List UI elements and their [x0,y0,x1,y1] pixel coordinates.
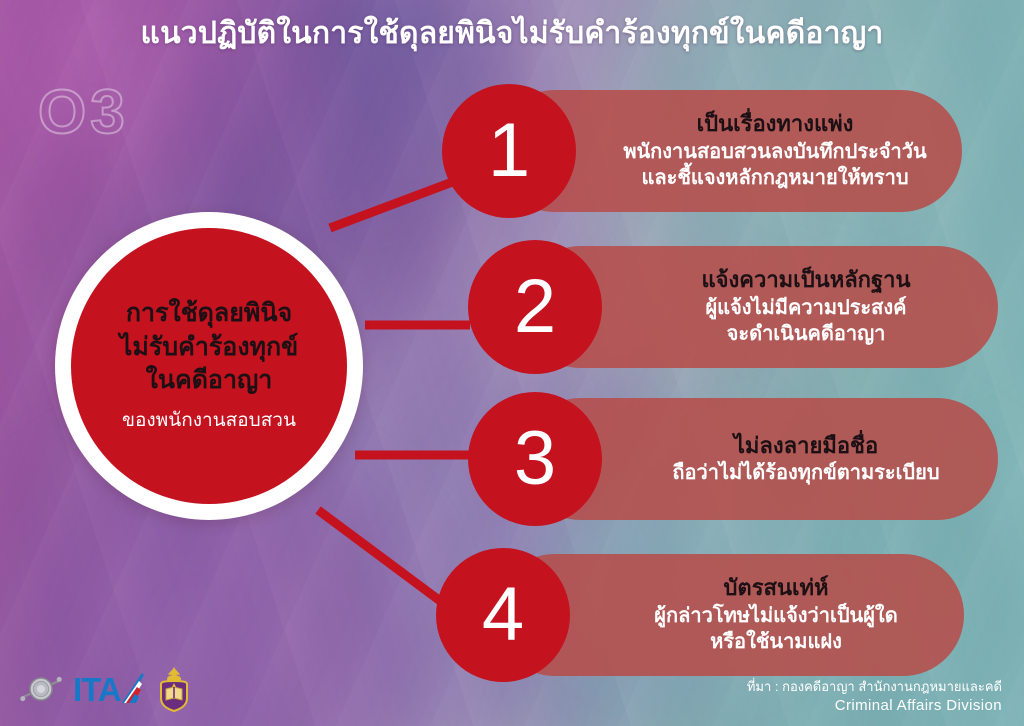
item-4-number-badge: 4 [436,548,570,682]
ita-logo: ITA [73,672,146,706]
item-1[interactable]: เป็นเรื่องทางแพ่ง พนักงานสอบสวนลงบันทึกป… [442,84,962,218]
item-2-number-badge: 2 [468,240,602,374]
item-3-heading: ไม่ลงลายมือชื่อ [636,432,976,461]
central-hub-inner: การใช้ดุลยพินิจ ไม่รับคำร้องทุกข์ ในคดีอ… [71,228,347,504]
thai-flag-swoosh-icon [114,672,146,706]
item-4-body-line-1: ผู้กล่าวโทษไม่แจ้งว่าเป็นผู้ใด [610,603,942,629]
item-3-body-line-1: ถือว่าไม่ได้ร้องทุกข์ตามระเบียบ [636,460,976,486]
item-1-heading: เป็นเรื่องทางแพ่ง [610,110,940,139]
connector-line-4 [318,510,455,612]
item-3[interactable]: ไม่ลงลายมือชื่อ ถือว่าไม่ได้ร้องทุกข์ตาม… [468,392,1010,526]
item-2-body-line-2: จะดำเนินคดีอาญา [636,321,976,347]
item-2[interactable]: แจ้งความเป็นหลักฐาน ผู้แจ้งไม่มีความประส… [468,240,1010,374]
central-hub: การใช้ดุลยพินิจ ไม่รับคำร้องทุกข์ ในคดีอ… [55,212,363,520]
hub-title-line-2: ไม่รับคำร้องทุกข์ [120,331,298,365]
item-1-body-line-1: พนักงานสอบสวนลงบันทึกประจำวัน [610,139,940,165]
source-credit: ที่มา : กองคดีอาญา สำนักงานกฎหมายและคดี … [747,678,1002,716]
police-seal-icon [18,666,64,712]
item-4[interactable]: บัตรสนเท่ห์ ผู้กล่าวโทษไม่แจ้งว่าเป็นผู้… [436,548,964,682]
item-1-body-line-2: และชี้แจงหลักกฎหมายให้ทราบ [610,165,940,191]
hub-title-line-3: ในคดีอาญา [146,364,273,398]
item-4-heading: บัตรสนเท่ห์ [610,574,942,603]
royal-police-crest-icon [155,666,193,712]
infographic-canvas: แนวปฏิบัติในการใช้ดุลยพินิจไม่รับคำร้องท… [0,0,1024,726]
item-4-body-line-2: หรือใช้นามแฝง [610,629,942,655]
hub-subtitle: ของพนักงานสอบสวน [122,405,296,435]
item-2-body-line-1: ผู้แจ้งไม่มีความประสงค์ [636,295,976,321]
item-1-number-badge: 1 [442,84,576,218]
item-2-heading: แจ้งความเป็นหลักฐาน [636,266,976,295]
source-credit-english: Criminal Affairs Division [747,696,1002,716]
logo-group: ITA [18,666,193,712]
source-credit-thai: ที่มา : กองคดีอาญา สำนักงานกฎหมายและคดี [747,678,1002,696]
hub-title-line-1: การใช้ดุลยพินิจ [126,297,292,331]
item-3-number-badge: 3 [468,392,602,526]
